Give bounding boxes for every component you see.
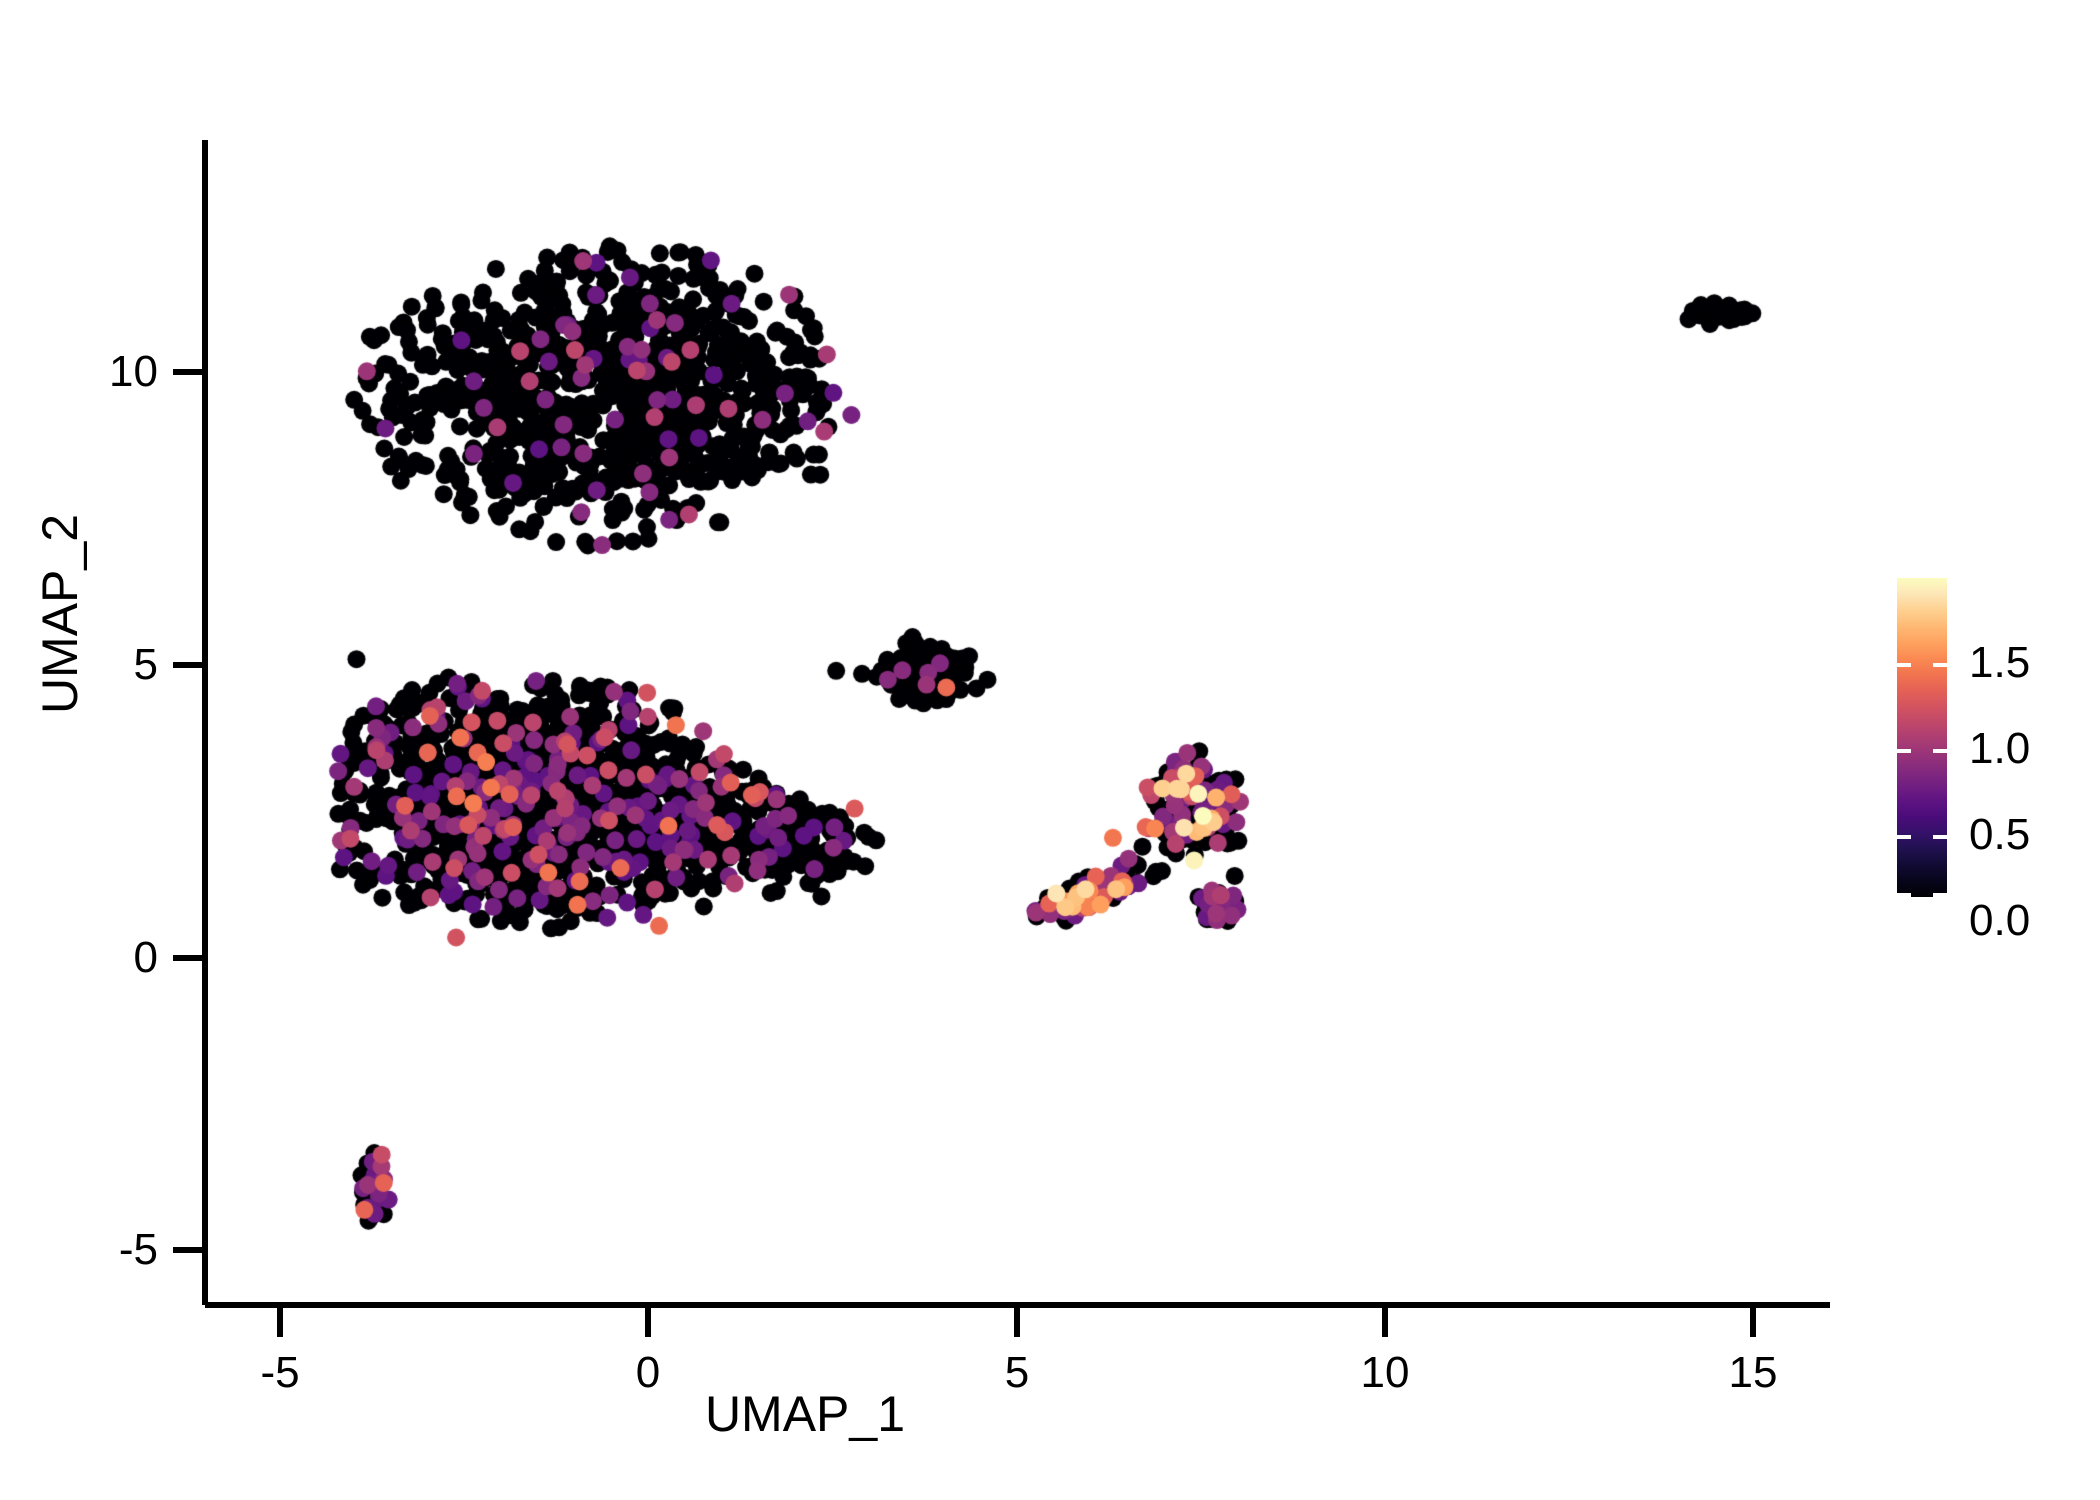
colorbar-tick-0.0-left	[1897, 893, 1911, 897]
colorbar-tick-1.0-left	[1897, 749, 1911, 753]
colorbar-tick-0.5-right	[1933, 835, 1947, 839]
umap-feature-plot: ARHGAP10 -5 0 5 10 15 10 5 0 -5 UMAP_1 U…	[0, 0, 2100, 1500]
colorbar-legend: 1.5 1.0 0.5 0.0	[1897, 578, 1947, 897]
axes-layer	[0, 0, 2100, 1500]
colorbar-label-2: 0.5	[1969, 810, 2030, 860]
y-tick-label-3: -5	[0, 1225, 158, 1275]
colorbar-tick-0.5-left	[1897, 835, 1911, 839]
colorbar-tick-1.0-right	[1933, 749, 1947, 753]
colorbar-tick-1.5-left	[1897, 663, 1911, 667]
colorbar-tick-1.5-right	[1933, 663, 1947, 667]
x-tick-label-3: 10	[1361, 1348, 1410, 1398]
x-tick-label-4: 15	[1729, 1348, 1778, 1398]
colorbar-tick-0.0-right	[1933, 893, 1947, 897]
y-axis-title: UMAP_2	[31, 414, 89, 814]
x-axis-title: UMAP_1	[605, 1385, 1005, 1443]
colorbar-label-3: 0.0	[1969, 896, 2030, 946]
colorbar-label-1: 1.0	[1969, 724, 2030, 774]
y-tick-label-0: 10	[0, 347, 158, 397]
x-tick-label-0: -5	[260, 1348, 299, 1398]
x-tick-label-2: 5	[1005, 1348, 1029, 1398]
y-tick-label-2: 0	[0, 933, 158, 983]
colorbar-label-0: 1.5	[1969, 638, 2030, 688]
colorbar-gradient	[1897, 578, 1947, 897]
